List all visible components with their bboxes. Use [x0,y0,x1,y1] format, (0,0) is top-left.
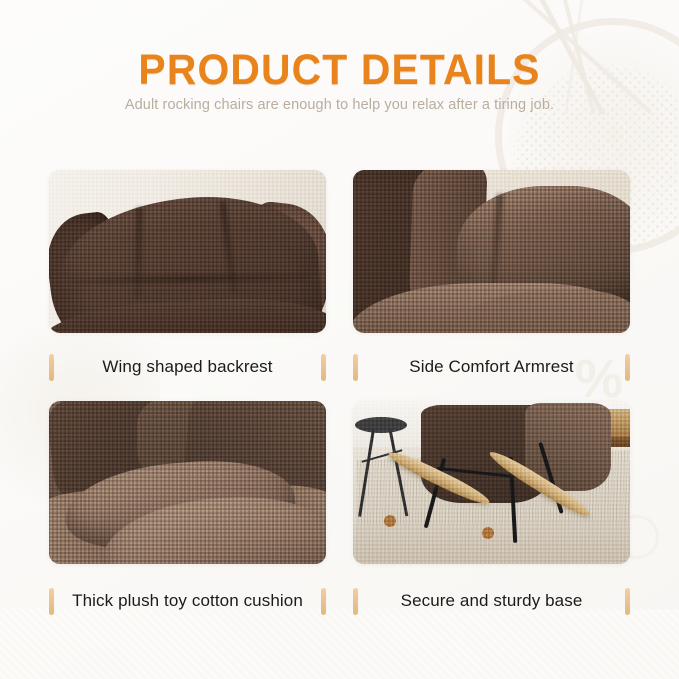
feature-photo-wing-backrest [49,170,326,333]
photo-sturdy-base [353,401,630,564]
page-title: PRODUCT DETAILS [17,48,662,93]
watermark-hatch-texture [0,609,679,679]
boucle-texture-overlay [49,170,326,333]
product-details-infographic: % PRODUCT DETAILS Adult rocking chairs a… [0,0,679,679]
feature-photo-sturdy-base [353,401,630,564]
caption-bar-left-icon [353,354,358,381]
caption-bar-right-icon [321,354,326,381]
photo-side-armrest [353,170,630,333]
boucle-texture-overlay [49,401,326,564]
caption-wing-backrest: Wing shaped backrest [49,352,326,382]
caption-label: Secure and sturdy base [387,591,597,611]
caption-label: Thick plush toy cotton cushion [66,591,309,611]
caption-bar-left-icon [353,588,358,615]
boucle-texture-overlay [353,170,630,333]
caption-sturdy-base: Secure and sturdy base [353,586,630,616]
caption-label: Side Comfort Armrest [395,357,588,377]
photo-plush-cushion [49,401,326,564]
caption-bar-left-icon [49,354,54,381]
caption-label: Wing shaped backrest [88,357,286,377]
feature-photo-side-armrest [353,170,630,333]
caption-plush-cushion: Thick plush toy cotton cushion [49,586,326,616]
photo-wing-backrest [49,170,326,333]
page-subtitle: Adult rocking chairs are enough to help … [0,94,679,116]
caption-bar-right-icon [321,588,326,615]
caption-bar-right-icon [625,588,630,615]
caption-bar-left-icon [49,588,54,615]
feature-photo-plush-cushion [49,401,326,564]
boucle-texture-overlay [353,401,630,564]
caption-side-armrest: Side Comfort Armrest [353,352,630,382]
caption-bar-right-icon [625,354,630,381]
